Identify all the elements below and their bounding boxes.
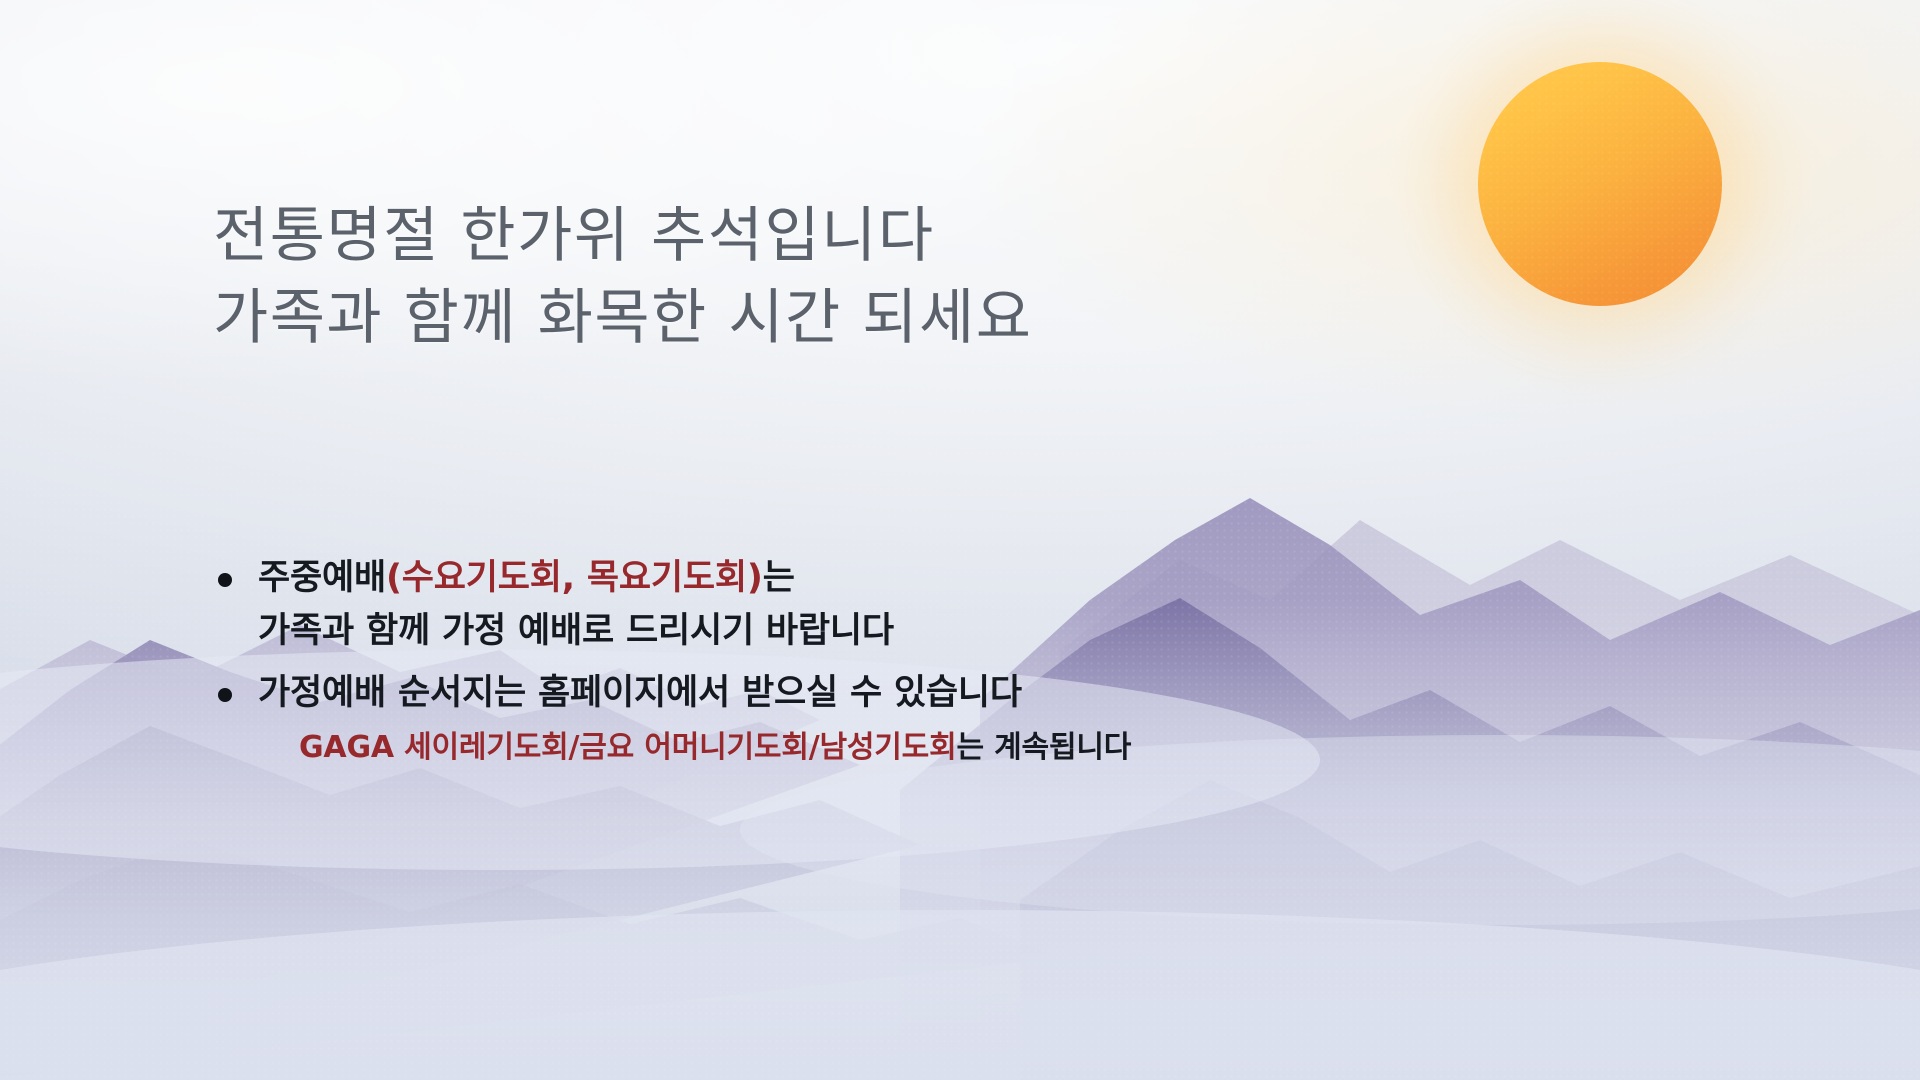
bullet-1-text: 주중예배(수요기도회, 목요기도회)는 가족과 함께 가정 예배로 드리시기 바… (258, 552, 894, 657)
title-line-2: 가족과 함께 화목한 시간 되세요 (213, 278, 1032, 360)
slide-canvas: 전통명절 한가위 추석입니다 가족과 함께 화목한 시간 되세요 주중예배(수요… (0, 0, 1920, 1080)
bullet-1-seg-2-accent: (수요기도회, 목요기도회) (386, 558, 763, 598)
bullet-dot-icon (218, 688, 232, 702)
bullet-item-2: 가정예배 순서지는 홈페이지에서 받으실 수 있습니다 GAGA 세이레기도회/… (218, 667, 1518, 772)
bullet-item-1: 주중예배(수요기도회, 목요기도회)는 가족과 함께 가정 예배로 드리시기 바… (218, 552, 1518, 657)
bullet-2-line-1: 가정예배 순서지는 홈페이지에서 받으실 수 있습니다 (258, 667, 1131, 720)
subnote-tail: 는 계속됩니다 (957, 730, 1132, 765)
title-block: 전통명절 한가위 추석입니다 가족과 함께 화목한 시간 되세요 (213, 196, 1032, 359)
bullet-1-line-1: 주중예배(수요기도회, 목요기도회)는 (258, 552, 894, 605)
mountain-landscape (0, 0, 1920, 1080)
title-line-1: 전통명절 한가위 추석입니다 (213, 196, 1032, 278)
bullet-2-text: 가정예배 순서지는 홈페이지에서 받으실 수 있습니다 GAGA 세이레기도회/… (258, 667, 1131, 772)
announcement-body: 주중예배(수요기도회, 목요기도회)는 가족과 함께 가정 예배로 드리시기 바… (218, 552, 1518, 782)
subnote-accent: GAGA 세이레기도회/금요 어머니기도회/남성기도회 (299, 730, 957, 765)
bullet-dot-icon (218, 573, 232, 587)
bullet-1-seg-3: 는 (763, 558, 795, 598)
bullet-1-seg-1: 주중예배 (258, 558, 386, 598)
bullet-2-subnote: GAGA 세이레기도회/금요 어머니기도회/남성기도회는 계속됩니다 (299, 730, 1131, 765)
bullet-1-line-2: 가족과 함께 가정 예배로 드리시기 바랍니다 (258, 605, 894, 658)
